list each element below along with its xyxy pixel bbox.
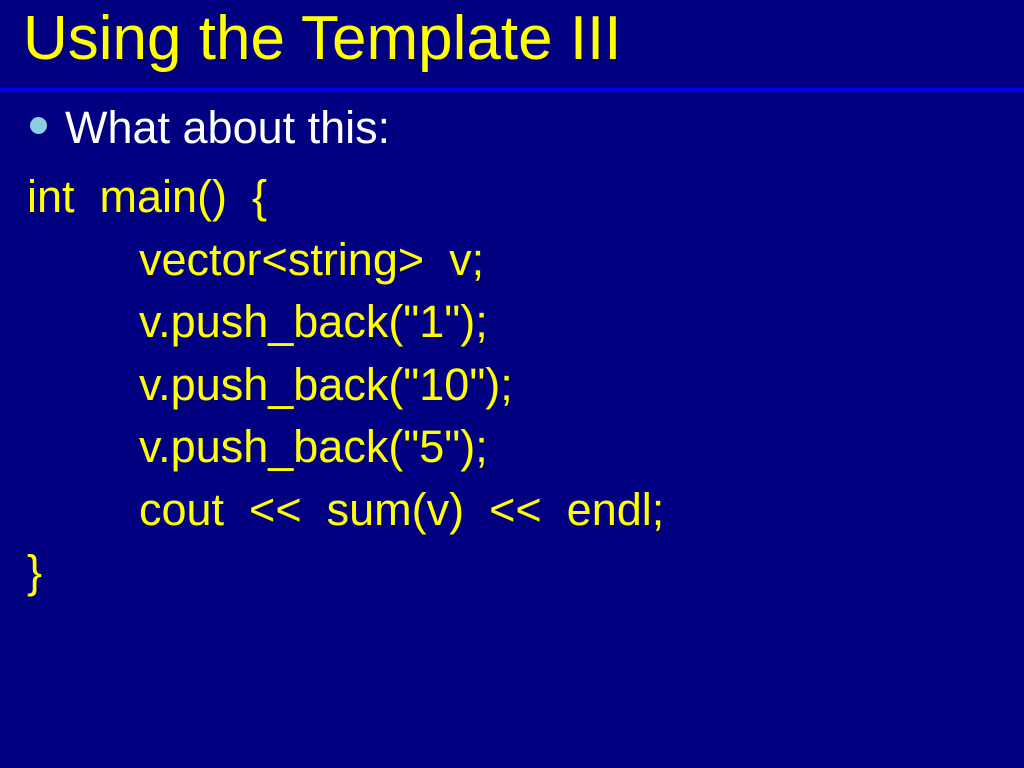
code-block: int main() { vector<string> v; v.push_ba…: [27, 166, 1007, 604]
code-line: v.push_back("1");: [27, 291, 1007, 354]
code-line: v.push_back("10");: [27, 354, 1007, 417]
page-title: Using the Template III: [23, 2, 622, 76]
bullet-item-label: What about this:: [65, 102, 390, 154]
bullet-list-item: What about this:: [30, 102, 390, 154]
title-divider-rule: [0, 88, 1024, 92]
code-line: cout << sum(v) << endl;: [27, 479, 1007, 542]
slide-body: What about this: int main() { vector<str…: [0, 96, 1024, 768]
code-line: int main() {: [27, 166, 1007, 229]
code-line: vector<string> v;: [27, 229, 1007, 292]
code-line: v.push_back("5");: [27, 416, 1007, 479]
round-bullet-icon: [30, 117, 47, 134]
code-line: }: [27, 541, 1007, 604]
presentation-slide: Using the Template III What about this: …: [0, 0, 1024, 768]
slide-title-area: Using the Template III: [0, 0, 1024, 88]
